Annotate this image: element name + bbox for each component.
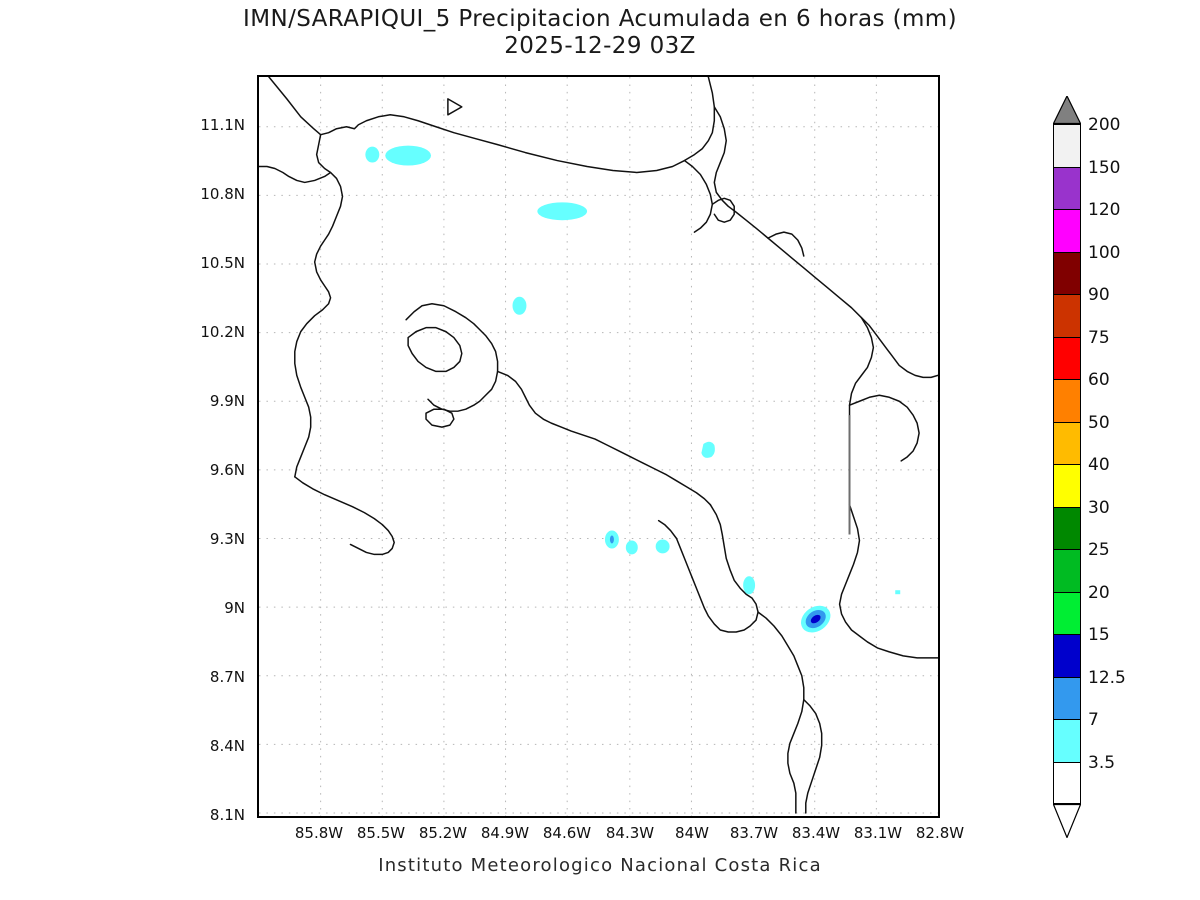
- ytick-label-3: 10.2N: [185, 323, 245, 341]
- xtick-label-1: 85.5W: [357, 824, 405, 842]
- xtick-label-5: 84.3W: [606, 824, 654, 842]
- colorbar-tick-label-30: 30: [1088, 498, 1110, 518]
- colorbar-swatch-75[interactable]: 75: [1053, 337, 1081, 380]
- ytick-label-1: 10.8N: [185, 185, 245, 203]
- ytick-label-6: 9.3N: [185, 530, 245, 548]
- colorbar-under-outline: [1053, 804, 1081, 838]
- footer-credit: Instituto Meteorologico Nacional Costa R…: [0, 855, 1200, 876]
- axis-labels-layer: 11.1N 10.8N 10.5N 10.2N 9.9N 9.6N 9.3N 9…: [0, 0, 1200, 900]
- colorbar-under-cap: [1053, 804, 1081, 838]
- colorbar-tick-label-120: 120: [1088, 200, 1120, 220]
- ytick-label-9: 8.4N: [185, 737, 245, 755]
- ytick-label-7: 9N: [185, 599, 245, 617]
- colorbar-over-outline: [1053, 96, 1081, 124]
- colorbar-tick-label-40: 40: [1088, 455, 1110, 475]
- colorbar-swatch-25[interactable]: 25: [1053, 549, 1081, 592]
- colorbar-tick-label-100: 100: [1088, 243, 1120, 263]
- colorbar-swatch-30[interactable]: 30: [1053, 507, 1081, 550]
- xtick-label-8: 83.4W: [792, 824, 840, 842]
- colorbar-tick-label-7: 7: [1088, 710, 1099, 730]
- colorbar-swatch-7[interactable]: 7: [1053, 719, 1081, 762]
- colorbar-swatch-100[interactable]: 100: [1053, 252, 1081, 295]
- xtick-label-9: 83.1W: [854, 824, 902, 842]
- xtick-label-0: 85.8W: [295, 824, 343, 842]
- xtick-label-3: 84.9W: [481, 824, 529, 842]
- colorbar-swatch-50[interactable]: 50: [1053, 422, 1081, 465]
- xtick-label-10: 82.8W: [916, 824, 964, 842]
- colorbar-over-cap: [1053, 96, 1081, 124]
- colorbar-tick-label-50: 50: [1088, 413, 1110, 433]
- xtick-label-2: 85.2W: [419, 824, 467, 842]
- ytick-label-4: 9.9N: [185, 392, 245, 410]
- colorbar-swatch-90[interactable]: 90: [1053, 294, 1081, 337]
- xtick-label-4: 84.6W: [543, 824, 591, 842]
- xtick-label-6: 84W: [675, 824, 709, 842]
- colorbar-swatch-60[interactable]: 60: [1053, 379, 1081, 422]
- ytick-label-0: 11.1N: [185, 116, 245, 134]
- colorbar-swatch-120[interactable]: 120: [1053, 209, 1081, 252]
- colorbar-swatch-12.5[interactable]: 12.5: [1053, 677, 1081, 720]
- colorbar-swatch-15[interactable]: 15: [1053, 634, 1081, 677]
- colorbar-tick-label-3.5: 3.5: [1088, 753, 1115, 773]
- colorbar-tick-label-150: 150: [1088, 158, 1120, 178]
- ytick-label-8: 8.7N: [185, 668, 245, 686]
- xtick-label-7: 83.7W: [730, 824, 778, 842]
- ytick-label-10: 8.1N: [185, 806, 245, 824]
- colorbar-tick-label-20: 20: [1088, 583, 1110, 603]
- ytick-label-2: 10.5N: [185, 254, 245, 272]
- colorbar-tick-label-15: 15: [1088, 625, 1110, 645]
- colorbar-tick-label-200: 200: [1088, 115, 1120, 135]
- colorbar[interactable]: 20015012010090756050403025201512.573.5: [1053, 96, 1081, 838]
- colorbar-swatch-20[interactable]: 20: [1053, 592, 1081, 635]
- colorbar-swatch-150[interactable]: 150: [1053, 167, 1081, 210]
- colorbar-tick-label-90: 90: [1088, 285, 1110, 305]
- ytick-label-5: 9.6N: [185, 461, 245, 479]
- colorbar-tick-label-60: 60: [1088, 370, 1110, 390]
- colorbar-cells[interactable]: 20015012010090756050403025201512.573.5: [1053, 124, 1081, 804]
- colorbar-swatch-3.5[interactable]: 3.5: [1053, 762, 1081, 805]
- colorbar-tick-label-75: 75: [1088, 328, 1110, 348]
- colorbar-swatch-40[interactable]: 40: [1053, 464, 1081, 507]
- colorbar-tick-label-12.5: 12.5: [1088, 668, 1126, 688]
- colorbar-tick-label-25: 25: [1088, 540, 1110, 560]
- colorbar-swatch-200[interactable]: 200: [1053, 124, 1081, 167]
